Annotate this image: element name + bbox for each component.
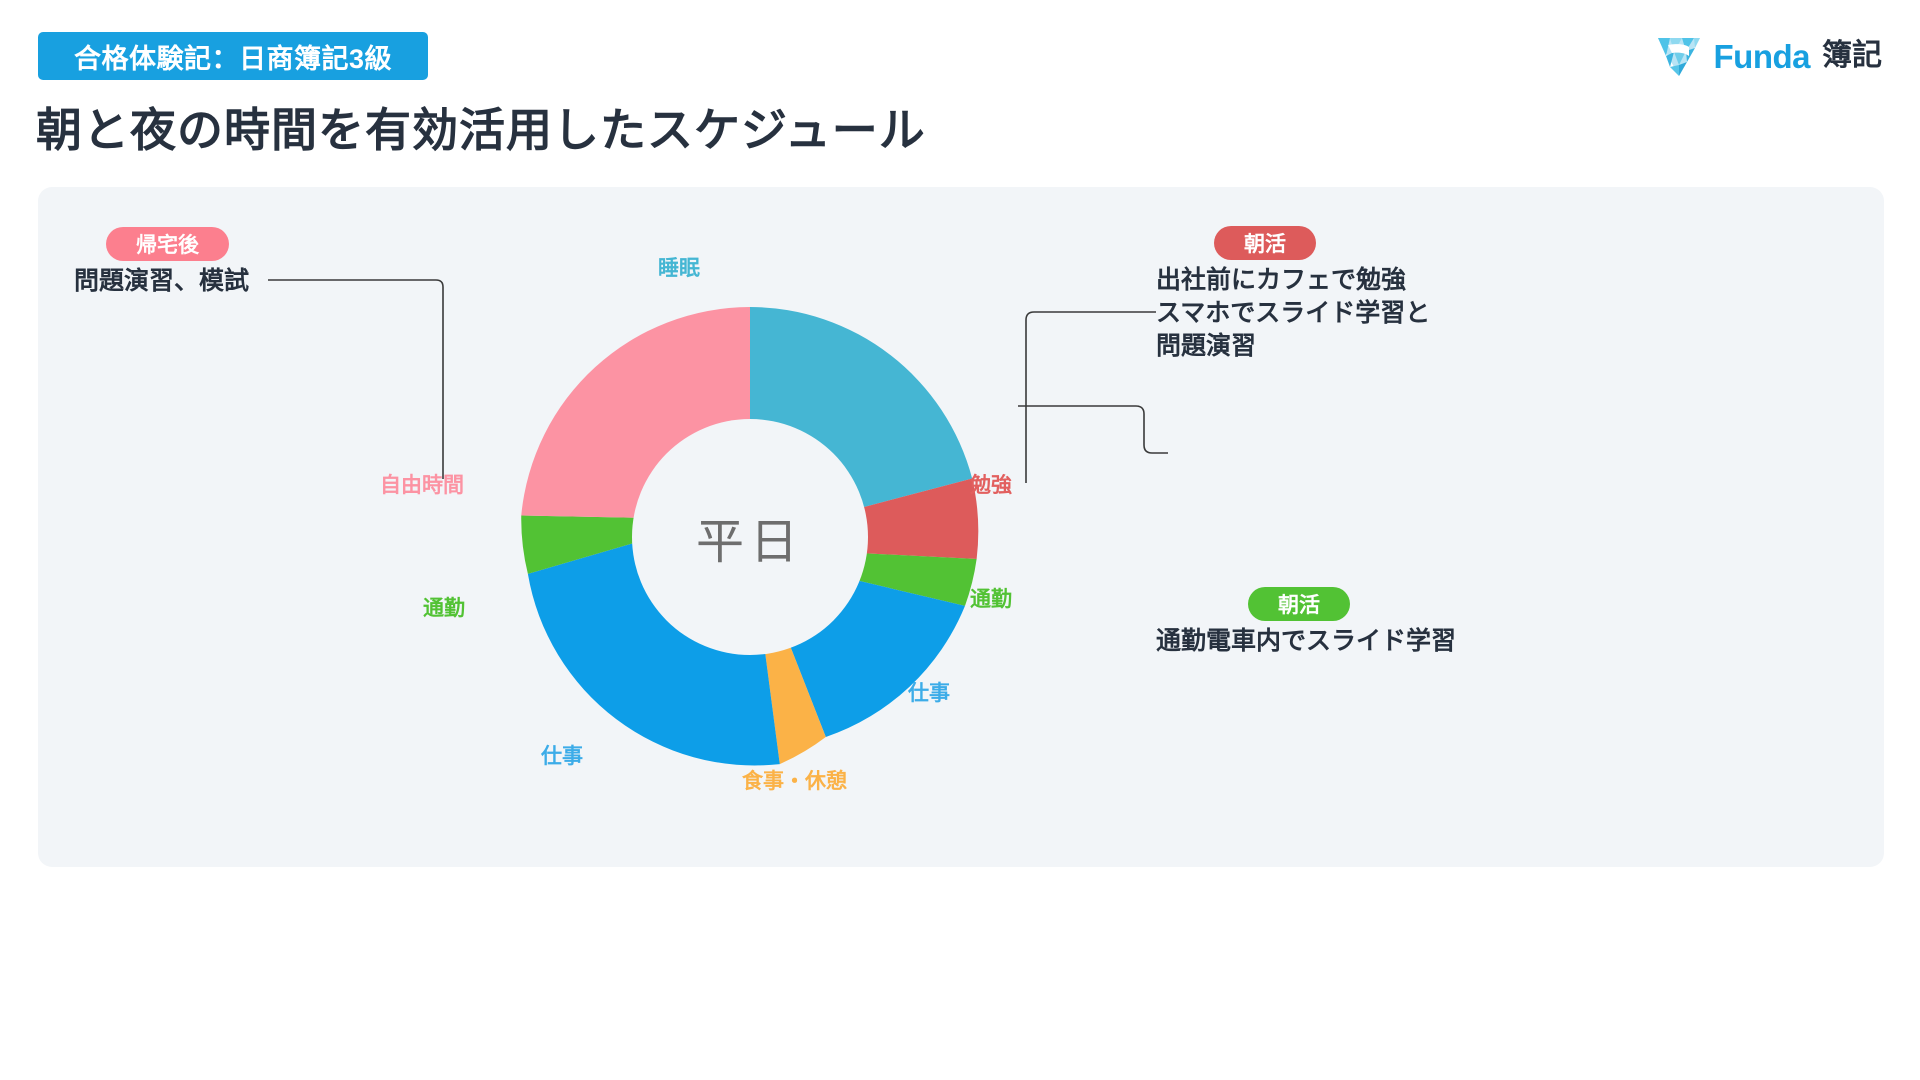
annotation-badge-study: 朝活 [1214, 226, 1316, 260]
eyebrow-badge-label: 合格体験記：日商簿記3級 [74, 37, 392, 76]
slice-label-work-right: 仕事 [908, 677, 950, 707]
brand-wordmark: Funda [1714, 40, 1810, 73]
eyebrow-badge: 合格体験記：日商簿記3級 [38, 32, 428, 80]
slice-label-commute-morning: 通勤 [970, 583, 1012, 613]
chart-panel: 帰宅後 問題演習、模試 朝活 出社前にカフェで勉強 スマホでスライド学習と 問題… [38, 187, 1884, 867]
connector-line-evening [268, 279, 448, 489]
slice-label-free-time: 自由時間 [380, 469, 464, 499]
slice-label-study: 勉強 [970, 469, 1012, 499]
annotation-badge-evening: 帰宅後 [106, 227, 229, 261]
annotation-badge-label: 朝活 [1244, 228, 1286, 258]
gem-icon [1656, 34, 1702, 78]
slice-label-commute-evening: 通勤 [423, 592, 465, 622]
donut-chart: 平日 睡眠 勉強 通勤 仕事 食事・休憩 仕事 通勤 自由時間 [458, 287, 1468, 867]
donut-svg [500, 287, 1000, 787]
brand-logo: Funda 簿記 [1656, 32, 1882, 80]
slice-label-work-left: 仕事 [541, 740, 583, 770]
donut-graphic: 平日 [500, 287, 1000, 787]
annotation-left-evening: 帰宅後 問題演習、模試 [74, 227, 249, 298]
page-title: 朝と夜の時間を有効活用したスケジュール [36, 94, 926, 160]
donut-hole [632, 419, 868, 655]
brand-sub-wordmark: 簿記 [1822, 41, 1882, 71]
annotation-text-evening: 問題演習、模試 [74, 265, 249, 298]
slice-label-sleep: 睡眠 [658, 252, 700, 282]
annotation-badge-label: 帰宅後 [136, 229, 199, 259]
slice-label-meal-break: 食事・休憩 [742, 765, 847, 795]
page-header: 合格体験記：日商簿記3級 朝と夜の時間を有効活用したスケジュール Funda 簿… [0, 0, 1920, 187]
